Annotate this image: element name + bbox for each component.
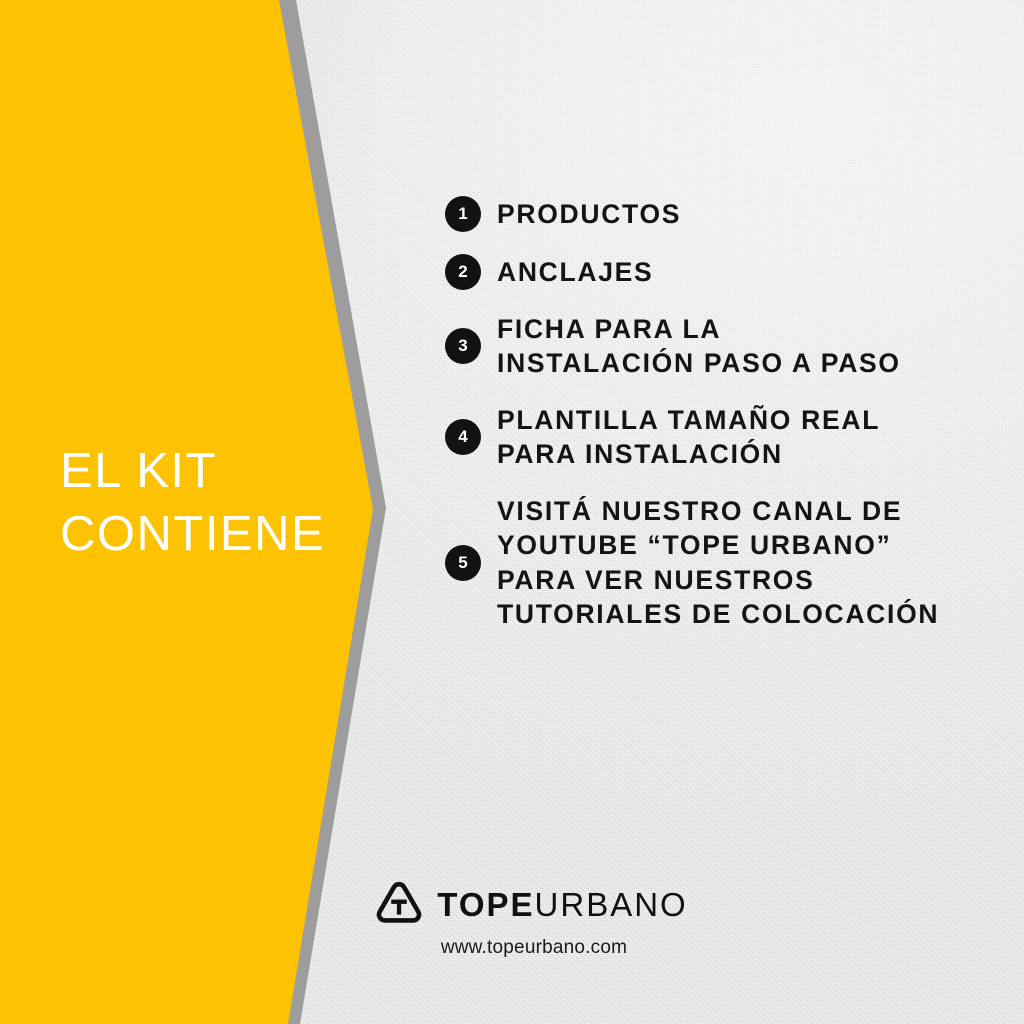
brand-name-bold: TOPE: [437, 886, 534, 923]
list-item-label: FICHA PARA LA INSTALACIÓN PASO A PASO: [497, 312, 901, 381]
page-title: EL KIT CONTIENE: [60, 440, 360, 565]
list-item: 3 FICHA PARA LA INSTALACIÓN PASO A PASO: [445, 312, 990, 381]
list-item: 4 PLANTILLA TAMAÑO REAL PARA INSTALACIÓN: [445, 403, 990, 472]
list-item-label: PLANTILLA TAMAÑO REAL PARA INSTALACIÓN: [497, 403, 880, 472]
list-item-number-badge: 3: [445, 328, 481, 364]
list-item-number-badge: 1: [445, 196, 481, 232]
rounded-triangle-t-logo-icon: [374, 880, 424, 928]
brand-wordmark: TOPEURBANO: [437, 888, 687, 921]
brand-logo-row: TOPEURBANO: [374, 880, 687, 928]
list-item-label: PRODUCTOS: [497, 197, 681, 231]
brand-name-light: URBANO: [535, 886, 688, 923]
brand-website-url: www.topeurbano.com: [441, 937, 627, 959]
list-item-number-badge: 5: [445, 545, 481, 581]
poster-canvas: EL KIT CONTIENE 1 PRODUCTOS 2 ANCLAJES 3…: [0, 0, 1024, 1024]
list-item: 5 VISITÁ NUESTRO CANAL DE YOUTUBE “TOPE …: [445, 494, 990, 632]
list-item-label: ANCLAJES: [497, 255, 653, 289]
list-item-number-badge: 4: [445, 419, 481, 455]
list-item-number-badge: 2: [445, 254, 481, 290]
list-item: 2 ANCLAJES: [445, 254, 990, 290]
kit-contents-list: 1 PRODUCTOS 2 ANCLAJES 3 FICHA PARA LA I…: [445, 196, 990, 632]
list-item-label: VISITÁ NUESTRO CANAL DE YOUTUBE “TOPE UR…: [497, 494, 939, 632]
list-item: 1 PRODUCTOS: [445, 196, 990, 232]
brand-logo: TOPEURBANO www.topeurbano.com: [0, 880, 1024, 959]
